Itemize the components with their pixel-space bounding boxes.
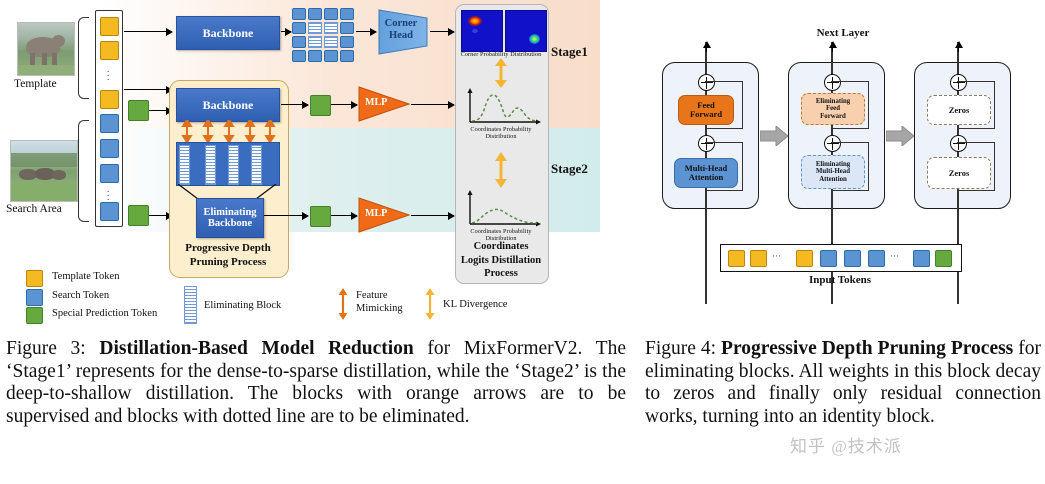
legend-icon-feature-mimicking [336, 288, 350, 320]
search-token [100, 164, 119, 183]
block2-residual-bottom [831, 142, 869, 191]
arrow-corner-head-to-panel [430, 31, 454, 32]
feature-token [340, 36, 354, 48]
arrow-mlp-bottom-to-panel [411, 215, 454, 216]
corner-prob-map-left [461, 10, 503, 52]
template-label: Template [14, 78, 57, 90]
block3-residual-bottom [957, 142, 995, 191]
arrow-tokens-to-backbone-top [124, 31, 172, 32]
legend-icon-kl-divergence [423, 288, 437, 320]
eliminating-backbone-label: EliminatingBackbone [203, 207, 256, 229]
figure3-caption-prefix: Figure 3: [6, 338, 86, 359]
block1-residual-top [705, 81, 743, 129]
special-prediction-token [310, 95, 331, 116]
mlp-bottom: MLP [358, 197, 410, 233]
ellipsis-template: ··· [772, 251, 781, 261]
template-token [796, 250, 813, 267]
block3-residual-top [957, 81, 995, 129]
template-token [100, 90, 119, 109]
watermark: 知乎 @技术派 [790, 432, 902, 457]
input-tokens-label: Input Tokens [770, 274, 910, 286]
legend-label-kl-divergence: KL Divergence [443, 299, 507, 310]
eliminating-block-stack [176, 142, 280, 186]
block2-top-arrow [832, 42, 833, 52]
corner-head: CornerHead [377, 8, 429, 56]
search-brace [78, 120, 89, 222]
feature-token [292, 50, 306, 62]
feature-token [308, 8, 322, 20]
search-token [844, 250, 861, 267]
block1-input-line [705, 176, 707, 304]
eliminating-block [179, 145, 190, 185]
ellipsis-search: ... [107, 187, 109, 199]
search-token [100, 202, 119, 221]
search-token [820, 250, 837, 267]
feature-token [292, 8, 306, 20]
feature-token-dotted [308, 22, 322, 34]
template-token [728, 250, 745, 267]
feature-token [324, 50, 338, 62]
coord-prob-caption-top: Coordinates Probability Distribution [456, 126, 546, 140]
kl-divergence-arrow-stage2 [493, 152, 509, 188]
legend-swatch-search-token [26, 289, 43, 306]
backbone-mid: Backbone [176, 88, 280, 122]
block1-residual-bottom [705, 142, 743, 191]
search-area-label: Search Area [6, 203, 62, 215]
figure3-caption: Figure 3: Distillation-Based Model Reduc… [6, 338, 626, 428]
search-token [868, 250, 885, 267]
figure4-caption: Figure 4: Progressive Depth Pruning Proc… [645, 338, 1041, 428]
arrow-grid-to-corner-head [356, 31, 376, 32]
feature-token [308, 50, 322, 62]
legend-swatch-template-token [26, 270, 43, 287]
block1-top-arrow [706, 42, 707, 52]
special-prediction-token [935, 250, 952, 267]
pruning-process-line1: Progressive Depth [185, 242, 270, 254]
mlp-top-label: MLP [365, 97, 387, 108]
eliminating-block [228, 145, 239, 185]
feature-token-grid [292, 8, 354, 60]
arrow-token-to-mlp-bottom [331, 215, 357, 216]
backbone-top: Backbone [176, 16, 280, 50]
feature-token [340, 22, 354, 34]
corner-prob-map-right [505, 10, 547, 52]
legend-label-search-token: Search Token [52, 290, 109, 301]
figure4-caption-prefix: Figure 4: [645, 338, 716, 359]
arrow-token-to-mlp-top [331, 104, 357, 105]
special-prediction-token [310, 206, 331, 227]
figure4-caption-bold: Progressive Depth Pruning Process [721, 338, 1013, 359]
special-prediction-token [128, 205, 149, 226]
pruning-process-label: Progressive Depth Pruning Process [172, 242, 284, 270]
ellipsis-search: ··· [890, 251, 899, 261]
legend-label-eliminating-block: Eliminating Block [204, 300, 281, 311]
pruning-process-line2: Pruning Process [190, 256, 267, 268]
kl-divergence-arrow-stage1 [493, 58, 509, 88]
special-prediction-token [128, 100, 149, 121]
block3-top-arrow [958, 42, 959, 52]
legend-swatch-eliminating-block [184, 286, 197, 324]
template-image [17, 22, 75, 76]
arrow-backbone-to-grid [281, 31, 291, 32]
next-layer-label: Next Layer [778, 27, 908, 39]
arrow-elim-backbone-to-token [264, 215, 308, 216]
feature-token [340, 8, 354, 20]
search-token [100, 139, 119, 158]
eliminating-block [251, 145, 262, 185]
ellipsis-template: ... [107, 67, 109, 79]
template-brace [78, 17, 89, 99]
mlp-top: MLP [358, 86, 410, 122]
search-token [100, 114, 119, 133]
feature-token-dotted [308, 36, 322, 48]
legend-swatch-special-prediction-token [26, 307, 43, 324]
feature-token [292, 36, 306, 48]
feature-token-dotted [324, 22, 338, 34]
legend-label-feature-mimicking: FeatureMimicking [356, 289, 403, 315]
eliminating-block [205, 145, 216, 185]
block3-input-line [957, 176, 959, 304]
template-token [100, 17, 119, 36]
legend-label-special-prediction-token: Special Prediction Token [52, 308, 157, 319]
search-area-image [10, 140, 78, 202]
eliminating-backbone: EliminatingBackbone [196, 198, 264, 238]
feature-token-dotted [324, 36, 338, 48]
template-token [750, 250, 767, 267]
feature-mimicking-arrows [176, 120, 280, 142]
search-token [913, 250, 930, 267]
template-token [100, 41, 119, 60]
figure4-diagram: Next Layer FeedForward Multi-HeadAttenti… [648, 0, 1045, 330]
arrow-backbone-mid-to-token [281, 104, 308, 105]
figure3-caption-bold: Distillation-Based Model Reduction [99, 338, 413, 359]
arrow-mlp-top-to-panel [411, 104, 454, 105]
figure3-legend: Template Token Search Token Special Pred… [26, 268, 546, 324]
corner-prob-caption: Corner Probability Distribution [456, 51, 546, 58]
stage2-label: Stage2 [551, 161, 588, 177]
corner-head-label: CornerHead [377, 18, 425, 41]
mlp-bottom-label: MLP [365, 208, 387, 219]
process-arrow-1 [760, 126, 788, 151]
stage1-label: Stage1 [551, 44, 588, 60]
token-column: ... ... [95, 10, 123, 227]
legend-label-template-token: Template Token [52, 271, 119, 282]
coord-prob-plot-bottom [462, 190, 542, 230]
feature-token [340, 50, 354, 62]
input-tokens-row: ··· ··· [720, 244, 962, 272]
feature-token [292, 22, 306, 34]
coord-prob-plot-top [462, 88, 542, 128]
feature-token [324, 8, 338, 20]
block2-residual-top [831, 81, 869, 129]
arrow-tokens-to-backbone-mid [124, 89, 172, 90]
process-arrow-2 [886, 126, 914, 151]
